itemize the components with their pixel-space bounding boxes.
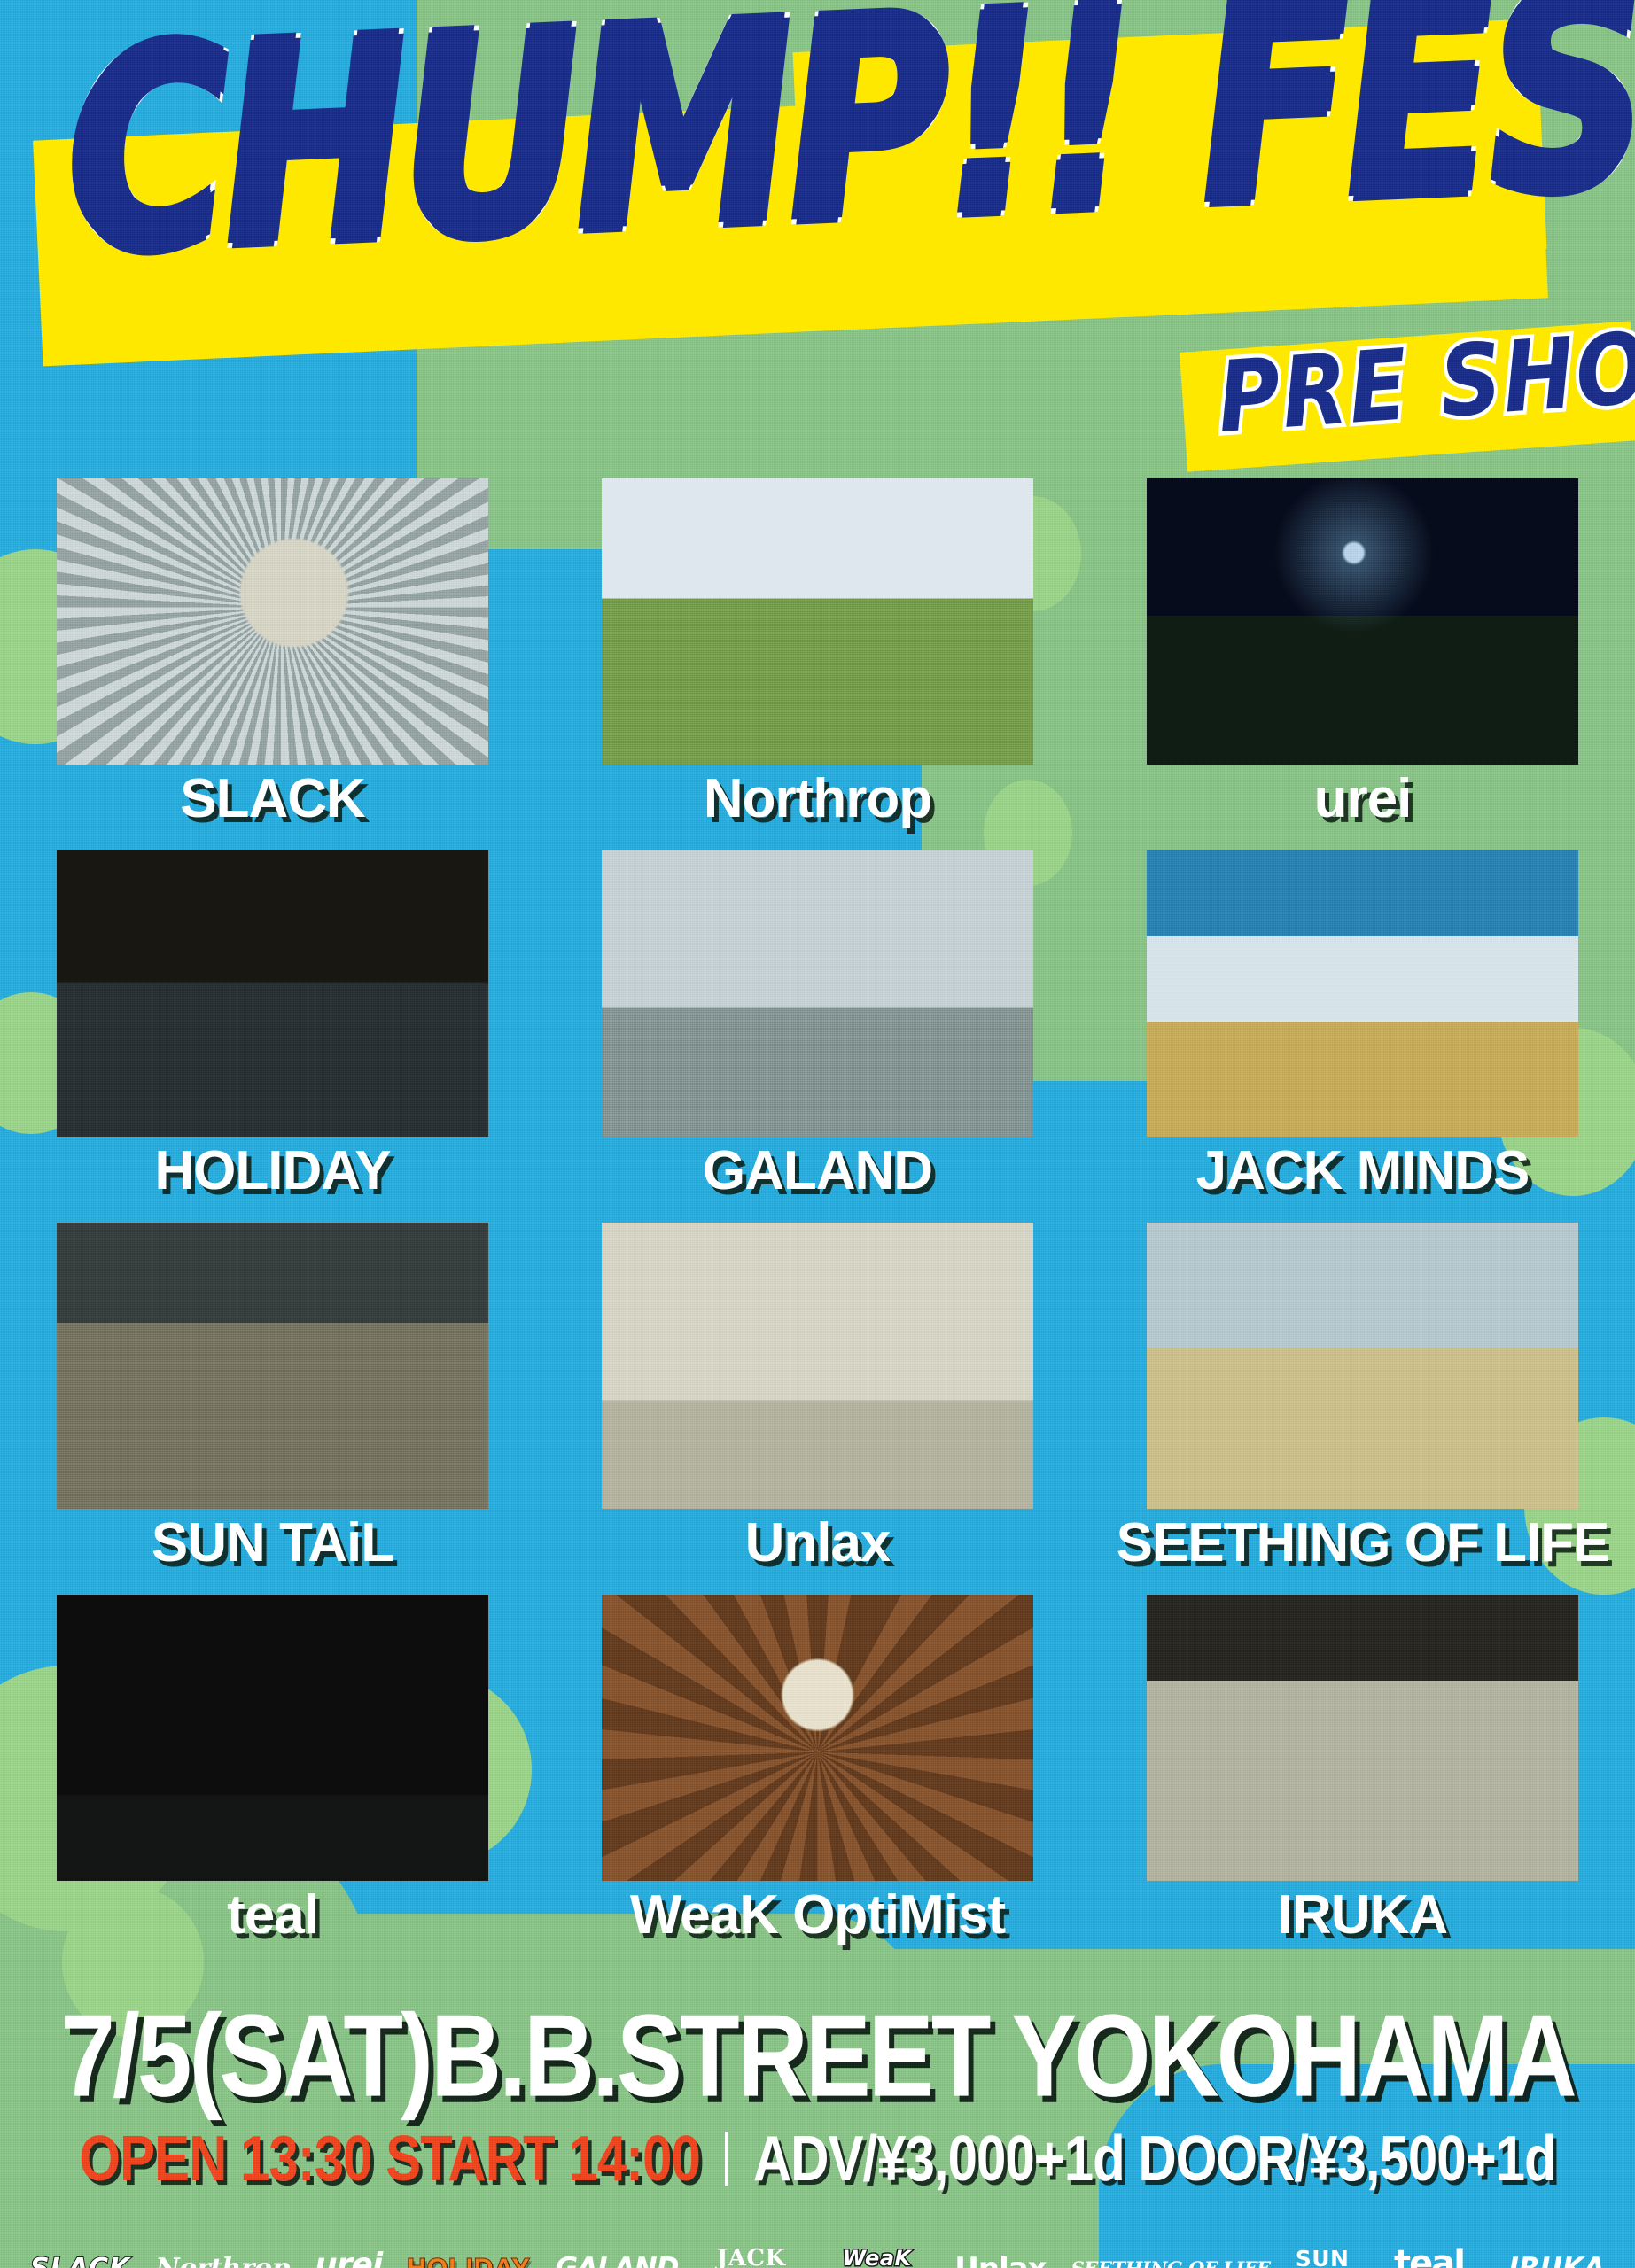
lineup-cell: Unlax [545,1223,1090,1595]
band-logo-text: Northrop [155,2253,290,2268]
band-logo: SLACK [30,2256,130,2268]
band-logo-text: HOLIDAY [407,2254,530,2268]
band-photo [602,1223,1033,1509]
lineup-cell: teal [0,1595,545,1967]
lineup-cell: SUN TAiL [0,1223,545,1595]
band-logo-text: WeaK [843,2246,912,2268]
band-photo [57,850,488,1137]
band-name: SEETHING OF LIFE [1117,1516,1609,1571]
band-logo-text: Unlax [954,2251,1046,2268]
date-venue-line: 7/5(SAT)B.B.STREET YOKOHAMA [8,1993,1627,2115]
lineup-cell: WeaK OptiMist [545,1595,1090,1967]
band-logo: Unlax [954,2255,1046,2268]
festival-poster: CHUMP!! FEST PRE SHOW SLACKNorthropureiH… [0,0,1635,2268]
lineup-cell: Northrop [545,478,1090,850]
band-photo [602,1595,1033,1881]
band-logo-strip: SLACKNorthropureiHOLIDAYGALANDJACKMINDSW… [0,2248,1635,2268]
band-logo-text: SEETHING OF LIFE [1071,2257,1271,2268]
band-logo: tealMADE IN 1996 [1374,2248,1484,2268]
band-photo [57,478,488,765]
title-zone: CHUMP!! FEST PRE SHOW [0,0,1635,461]
band-photo [1147,1595,1578,1881]
show-info-row: OPEN 13:30 START 14:00 ADV/¥3,000+1d DOO… [0,2128,1635,2189]
ticket-price: ADV/¥3,000+1d DOOR/¥3,500+1d [753,2122,1556,2195]
page-title: CHUMP!! FEST [62,0,1615,292]
band-photo [1147,478,1578,765]
band-name: WeaK OptiMist [630,1888,1005,1943]
band-name: GALAND [703,1144,932,1199]
band-logo: SEETHING OF LIFE [1071,2260,1271,2268]
band-name: IRUKA [1278,1888,1447,1943]
band-logo-text: SUN [1296,2246,1350,2268]
band-logo-text: teal [1394,2243,1464,2268]
band-photo [1147,1223,1578,1509]
band-logo: WeaKOptiMist [824,2248,930,2268]
band-photo [57,1595,488,1881]
band-name: urei [1314,772,1412,827]
band-photo [57,1223,488,1509]
band-name: Unlax [745,1516,891,1571]
band-name: SUN TAiL [152,1516,393,1571]
band-logo: SUNTAiL [1296,2249,1350,2268]
open-start-times: OPEN 13:30 START 14:00 [79,2122,700,2195]
band-logo-text: urei [315,2247,382,2268]
lineup-cell: urei [1090,478,1635,850]
lineup-grid: SLACKNorthropureiHOLIDAYGALANDJACK MINDS… [0,478,1635,1967]
band-name: HOLIDAY [154,1144,390,1199]
band-logo: IRUKA [1508,2256,1605,2268]
lineup-cell: SEETHING OF LIFE [1090,1223,1635,1595]
lineup-cell: SLACK [0,478,545,850]
lineup-cell: JACK MINDS [1090,850,1635,1223]
band-logo: HOLIDAY [407,2256,530,2268]
band-logo-text: SLACK [30,2253,130,2268]
lineup-cell: GALAND [545,850,1090,1223]
band-name: Northrop [704,772,931,827]
band-photo [602,850,1033,1137]
band-logo-text: GALAND [556,2252,679,2268]
lineup-cell: IRUKA [1090,1595,1635,1967]
band-photo [1147,850,1578,1137]
info-divider [725,2132,728,2186]
band-logo: GALAND [556,2256,679,2268]
band-logo: JACKMINDS [703,2249,799,2268]
band-logo: urei [315,2250,382,2268]
band-name: JACK MINDS [1196,1144,1530,1199]
band-name: SLACK [180,772,365,827]
band-logo: Northrop [155,2256,290,2268]
lineup-cell: HOLIDAY [0,850,545,1223]
footer: 7/5(SAT)B.B.STREET YOKOHAMA OPEN 13:30 S… [0,1993,1635,2268]
band-name: teal [227,1888,318,1943]
band-logo-text: IRUKA [1508,2252,1605,2268]
band-photo [602,478,1033,765]
